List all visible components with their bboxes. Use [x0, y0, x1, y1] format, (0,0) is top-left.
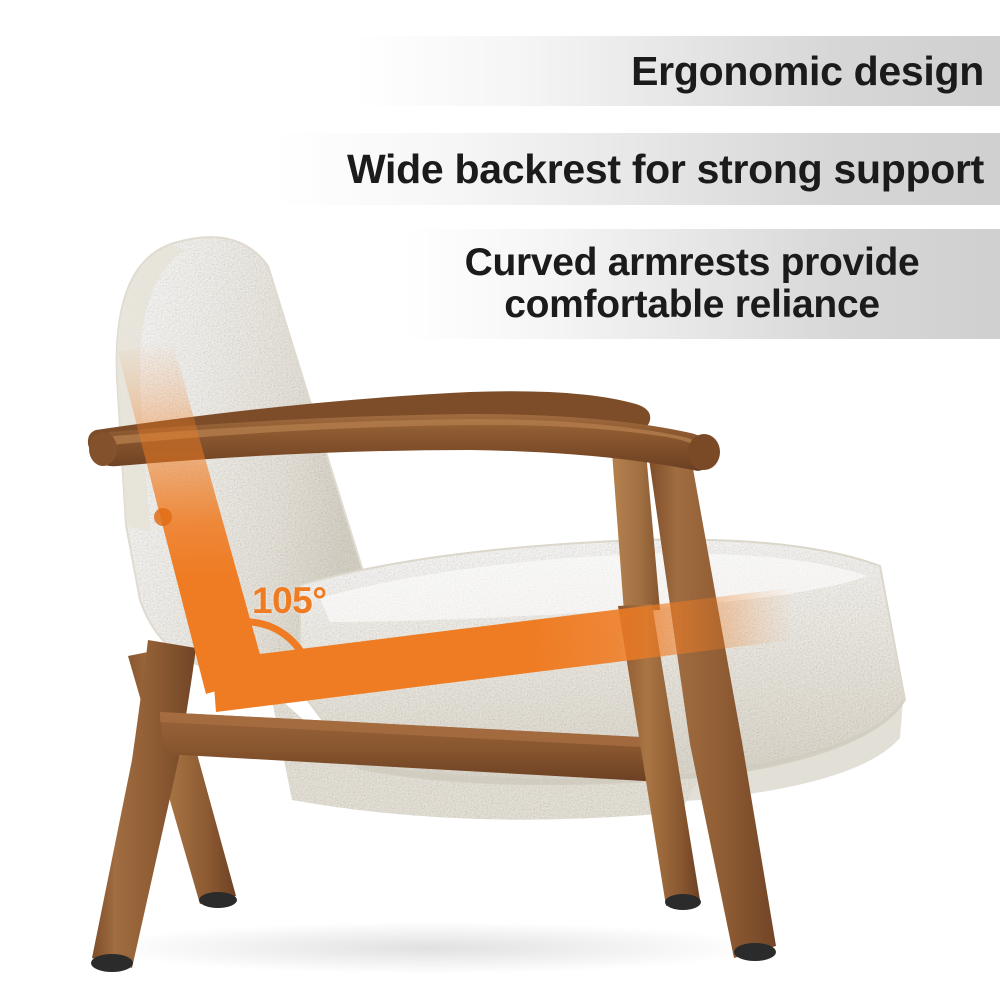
callout-text-curved-armrests: Curved armrests provide comfortable reli…	[465, 242, 920, 326]
angle-value-label: 105°	[252, 580, 327, 622]
callout-band-wide-backrest: Wide backrest for strong support	[276, 133, 1000, 205]
callout-band-curved-armrests: Curved armrests provide comfortable reli…	[404, 229, 1000, 339]
foot-cap-front-right	[734, 943, 776, 961]
foot-cap-front-left	[91, 954, 133, 972]
foot-cap-rear-right	[665, 894, 701, 910]
callout-text-ergonomic-design: Ergonomic design	[631, 49, 984, 93]
pivot-dot	[154, 508, 172, 526]
callout-band-ergonomic-design: Ergonomic design	[352, 36, 1000, 106]
product-feature-image: 105° Ergonomic design Wide backrest for …	[0, 0, 1000, 1000]
foot-cap-rear-left	[199, 892, 237, 908]
floor-shadow	[100, 922, 760, 974]
callout-text-wide-backrest: Wide backrest for strong support	[347, 147, 984, 191]
